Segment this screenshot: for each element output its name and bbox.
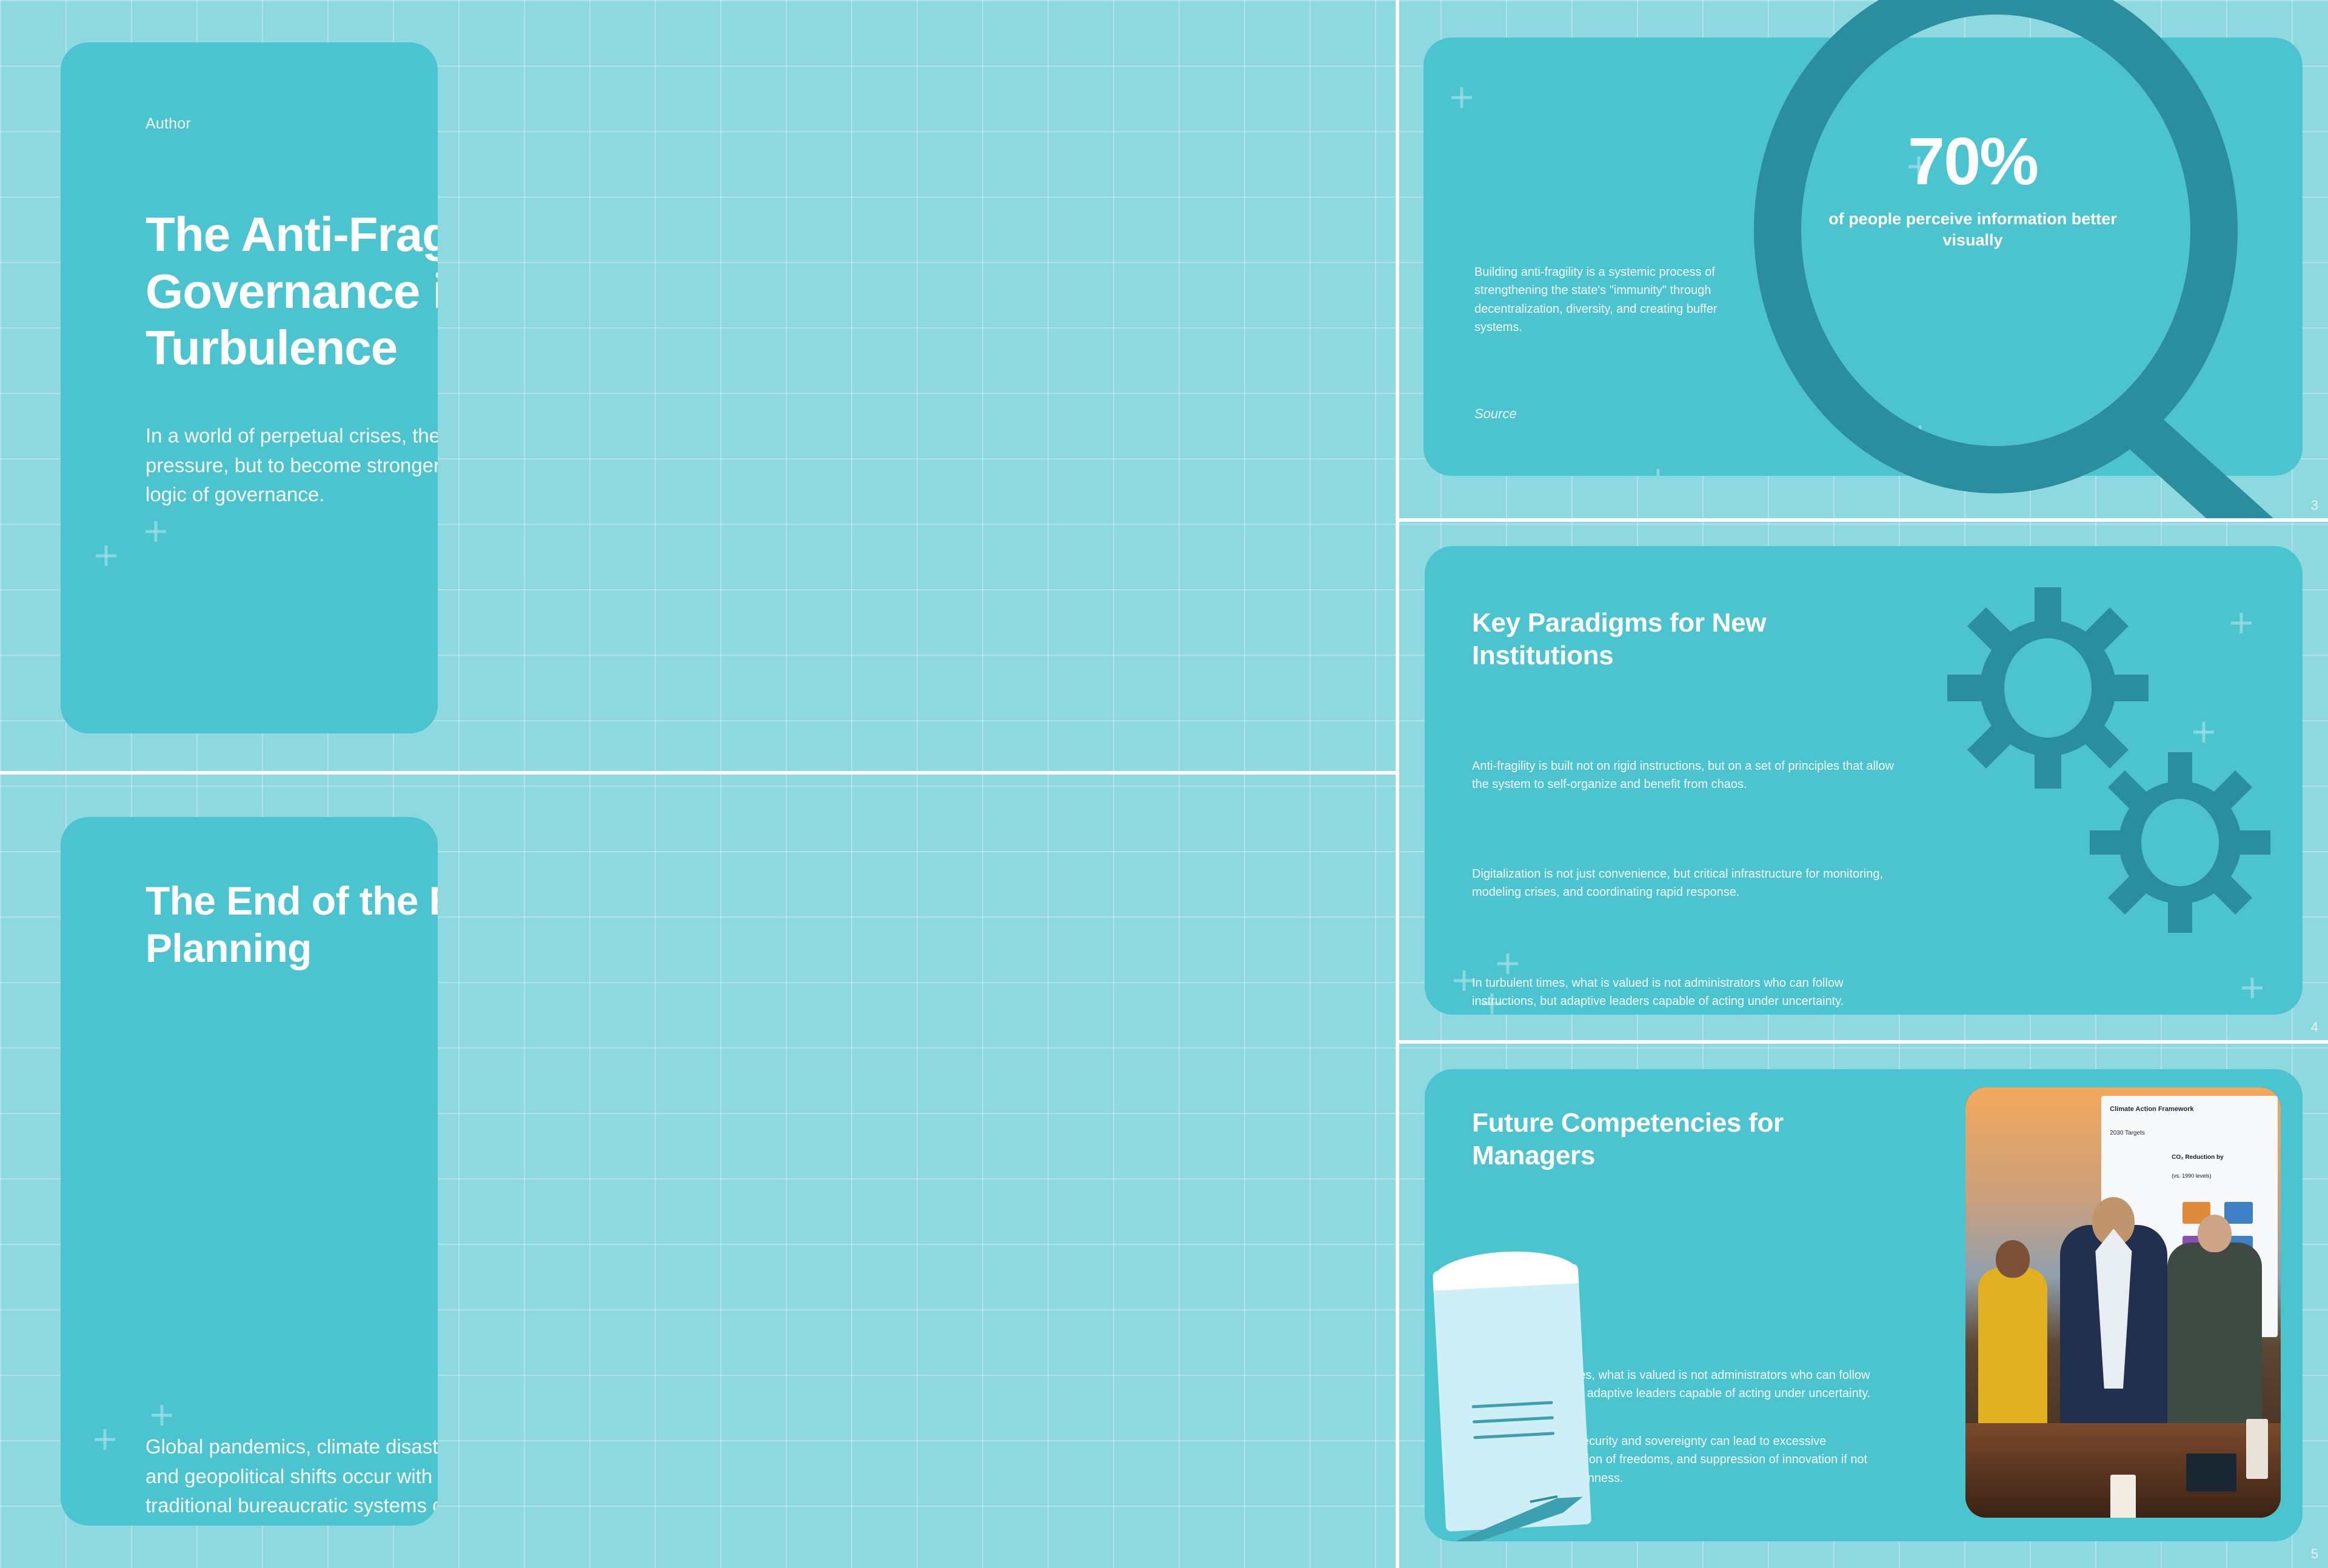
sparkle-icon xyxy=(145,521,166,542)
photo-coffee-cup xyxy=(2110,1475,2136,1518)
document-curl xyxy=(1432,1248,1579,1290)
page-title: The Anti-Fragile State: Governance in an… xyxy=(145,206,438,376)
photo-tablet xyxy=(2186,1453,2236,1492)
page-number: 4 xyxy=(2311,1019,2318,1035)
document-line xyxy=(1473,1416,1554,1424)
page-title: Future Competencies for Managers xyxy=(1472,1107,1848,1172)
slide-linear-planning: The End of the Era of Linear Planning Gl… xyxy=(0,775,1396,1568)
slide1-card: Author The Anti-Fragile State: Governanc… xyxy=(61,42,438,733)
slide-title: Author The Anti-Fragile State: Governanc… xyxy=(0,0,1396,771)
document-line xyxy=(1473,1432,1554,1440)
sparkle-icon xyxy=(152,1405,172,1426)
slide5-card: Future Competencies for Managers 1. In t… xyxy=(1425,1069,2303,1541)
statistic-number: 70% xyxy=(1827,128,2118,195)
statistic-caption: of people perceive information better vi… xyxy=(1827,209,2118,251)
page-title: The End of the Era of Linear Planning xyxy=(145,878,438,972)
gears-icon xyxy=(1896,570,2296,995)
photo-board-node xyxy=(2224,1202,2253,1224)
photo-person xyxy=(2167,1243,2262,1449)
document-scroll-icon xyxy=(1433,1264,1591,1532)
author-label: Author xyxy=(145,115,191,133)
slide2-card: The End of the Era of Linear Planning Gl… xyxy=(61,817,438,1526)
photo-board-metric: CO₂ Reduction by xyxy=(2172,1154,2224,1161)
photo-board-title: Climate Action Framework xyxy=(2110,1106,2193,1113)
sparkle-icon xyxy=(1648,469,1668,476)
photo-person xyxy=(1978,1268,2047,1440)
pen-icon xyxy=(1439,1489,1586,1541)
photo-board-subtitle: 2030 Targets xyxy=(2110,1130,2145,1136)
sparkle-icon xyxy=(1454,970,1474,991)
slide-key-paradigms: Key Paradigms for New Institutions Anti-… xyxy=(1399,522,2328,1040)
sparkle-icon xyxy=(1451,87,1472,108)
source-label: Source xyxy=(1474,406,1517,422)
slide-statistic: Building anti-fragility is a systemic pr… xyxy=(1399,0,2328,518)
slide4-card: Key Paradigms for New Institutions Anti-… xyxy=(1425,546,2303,1015)
paradigm-paragraph: Anti-fragility is built not on rigid ins… xyxy=(1472,757,1908,794)
document-line xyxy=(1471,1401,1553,1408)
title-lead-paragraph: In a world of perpetual crises, the stat… xyxy=(145,421,438,510)
right-slide-column: Building anti-fragility is a systemic pr… xyxy=(1399,0,2328,1568)
sparkle-icon xyxy=(1497,953,1518,974)
slide-future-competencies: Future Competencies for Managers 1. In t… xyxy=(1399,1044,2328,1568)
statistic-block: 70% of people perceive information bette… xyxy=(1827,128,2118,251)
paradigm-paragraph: In turbulent times, what is valued is no… xyxy=(1472,974,1908,1011)
sparkle-icon xyxy=(96,545,116,566)
photo-coffee-cup xyxy=(2246,1419,2268,1479)
managers-photo: Climate Action Framework 2030 Targets CO… xyxy=(1965,1087,2281,1518)
magnifying-glass-icon xyxy=(1711,0,2328,518)
photo-board-metric-sub: (vs. 1990 levels) xyxy=(2172,1173,2212,1179)
page-number: 5 xyxy=(2311,1546,2318,1562)
page-title: Key Paradigms for New Institutions xyxy=(1472,607,1848,672)
paradigm-paragraph: Digitalization is not just convenience, … xyxy=(1472,865,1908,902)
slide-deck: Author The Anti-Fragile State: Governanc… xyxy=(0,0,2328,1568)
sparkle-icon xyxy=(95,1429,115,1450)
linear-planning-paragraph: Global pandemics, climate disasters, tec… xyxy=(145,1432,438,1521)
